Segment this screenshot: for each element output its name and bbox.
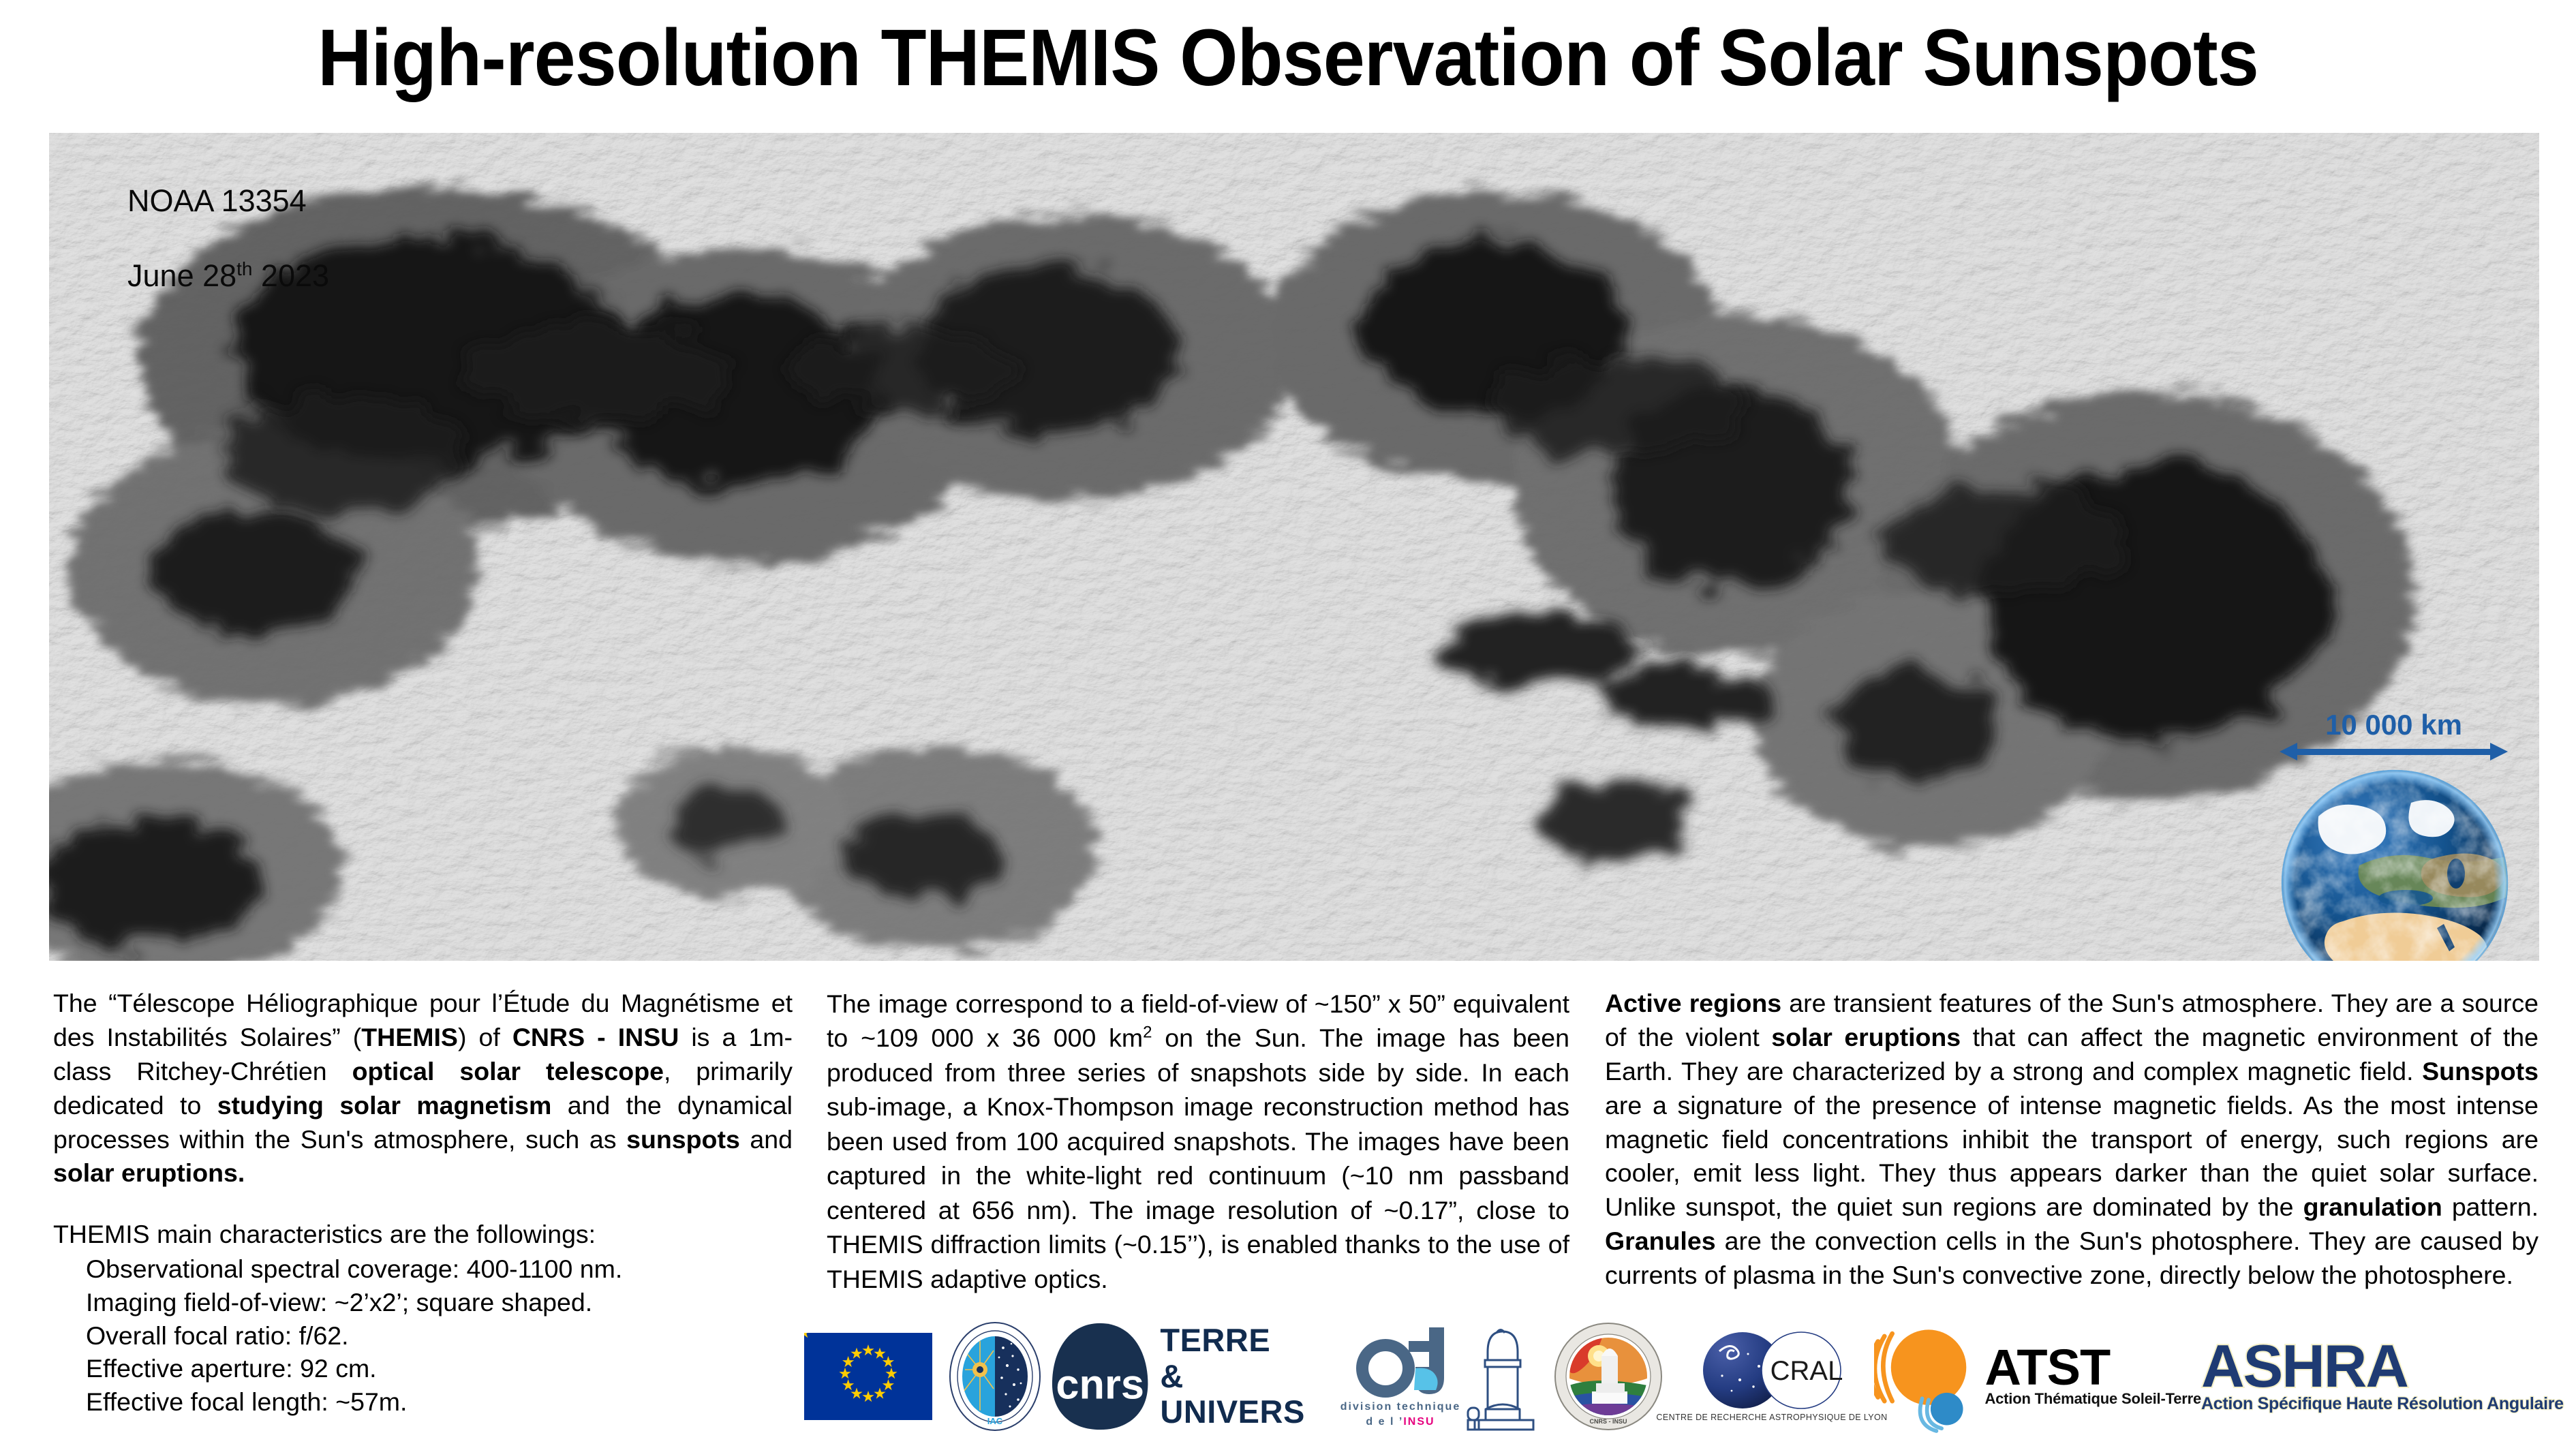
cnrs-logo-icon: cnrs [1049,1319,1150,1434]
sunspot-granulation-render [49,133,2539,961]
cnrs-caption-line1: TERRE [1160,1323,1336,1359]
atst-sun-icon [1874,1319,1978,1434]
logo-cral: CRAL CENTRE DE RECHERCHE ASTROPHYSIQUE D… [1670,1319,1874,1434]
characteristic-item: Effective aperture: 92 cm. [53,1352,793,1385]
poster-page: High-resolution THEMIS Observation of So… [0,0,2576,1448]
atst-text-block: ATST Action Thématique Soleil-Terre [1984,1345,2201,1408]
noaa-label: NOAA 13354 [127,183,307,218]
cral-caption: CENTRE DE RECHERCHE ASTROPHYSIQUE DE LYO… [1656,1413,1887,1422]
middle-paragraph: The image correspond to a field-of-view … [827,987,1569,1296]
logo-telescope-building [1465,1319,1554,1434]
characteristics-heading: THEMIS main characteristics are the foll… [53,1218,793,1251]
cral-logo-icon: CRAL [1680,1331,1864,1413]
logo-cnrs: cnrs TERRE & UNIVERS [1049,1319,1336,1434]
iac-seal-icon: IAC [947,1321,1043,1433]
characteristic-item: Overall focal ratio: f/62. [53,1319,793,1353]
cnrs-caption-line2: & UNIVERS [1160,1359,1336,1430]
scale-label: 10 000 km [2280,709,2508,741]
eu-flag-icon [804,1333,932,1420]
dt-insu-icon [1353,1323,1448,1400]
date-label: June 28th 2023 [127,258,329,293]
image-caption: NOAA 13354 June 28th 2023 [76,145,329,332]
logo-iac: IAC [947,1319,1049,1434]
cnrs-wordmark: cnrs [1056,1361,1144,1408]
logo-atst: ATST Action Thématique Soleil-Terre [1874,1319,2201,1434]
earth-globe-icon [2278,763,2513,961]
ashra-wordmark: ASHRA [2201,1339,2408,1394]
dt-insu-caption: division technique d e l ’INSU [1340,1400,1460,1429]
observatory-dome-icon [1465,1321,1540,1433]
solar-observation-image: NOAA 13354 June 28th 2023 10 000 km [49,133,2539,961]
dt-caption-line1: division technique [1340,1400,1460,1415]
scale-bar-arrow [2280,743,2508,760]
ashra-caption: Action Spécifique Haute Résolution Angul… [2201,1394,2564,1414]
iac-text: IAC [987,1416,1003,1426]
cral-wordmark: CRAL [1770,1356,1843,1386]
characteristic-item: Effective focal length: ~57m. [53,1385,793,1419]
logo-european-union [804,1319,947,1434]
atst-caption: Action Thématique Soleil-Terre [1984,1390,2201,1408]
characteristic-item: Imaging field-of-view: ~2’x2’; square sh… [53,1286,793,1319]
right-paragraph: Active regions are transient features of… [1605,987,2539,1293]
logo-ashra: ASHRA Action Spécifique Haute Résolution… [2201,1319,2576,1434]
left-paragraph: The “Télescope Héliographique pour l’Étu… [53,987,793,1190]
themis-seal-icon: CNRS - INSU [1554,1321,1663,1433]
atst-wordmark: ATST [1984,1345,2201,1391]
characteristics-list: THEMIS main characteristics are the foll… [53,1218,793,1419]
text-column-right: Active regions are transient features of… [1605,987,2539,1293]
page-title: High-resolution THEMIS Observation of So… [90,16,2485,101]
dt-caption-line2: d e l ’INSU [1340,1415,1460,1430]
logo-dt-insu: division technique d e l ’INSU [1336,1319,1465,1434]
arrow-shaft [2295,749,2493,755]
themis-seal-sub: CNRS - INSU [1589,1418,1627,1425]
arrow-right-head [2490,743,2508,760]
cnrs-caption: TERRE & UNIVERS [1160,1323,1336,1430]
characteristic-item: Observational spectral coverage: 400-110… [53,1252,793,1286]
text-column-left: The “Télescope Héliographique pour l’Étu… [53,987,793,1419]
partner-logo-strip: IAC cnrs TERRE & UNIVERS division t [804,1315,2576,1438]
text-column-middle: The image correspond to a field-of-view … [827,987,1569,1296]
logo-themis-seal: CNRS - INSU [1554,1319,1670,1434]
